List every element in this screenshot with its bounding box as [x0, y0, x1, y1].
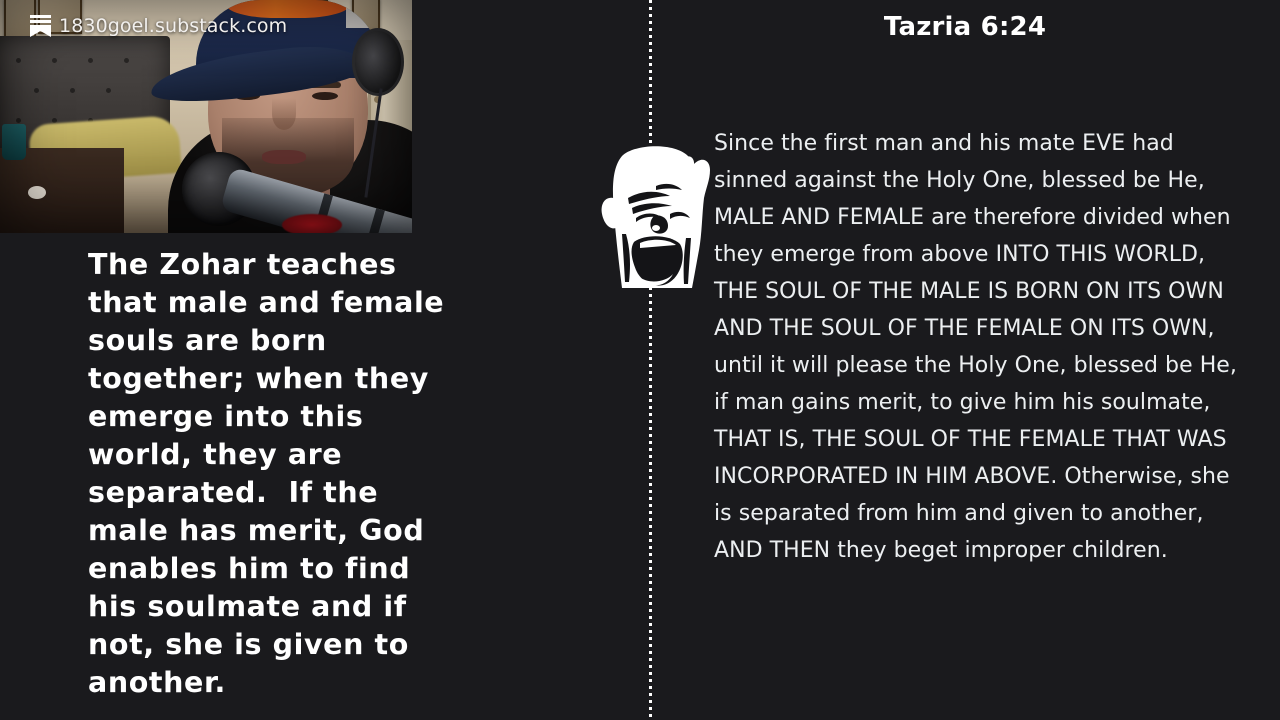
screaming-face-icon	[598, 142, 716, 294]
headphone-earcup-icon	[352, 28, 404, 96]
page-title: Tazria 6:24	[650, 12, 1280, 42]
speaker-nose	[272, 98, 296, 130]
slide-canvas: 1830goel.substack.com The Zohar teaches …	[0, 0, 1280, 720]
left-caption-text: The Zohar teaches that male and female s…	[88, 246, 508, 702]
substack-logo-icon	[30, 14, 51, 38]
substack-watermark: 1830goel.substack.com	[30, 14, 287, 38]
vertical-dotted-divider	[649, 0, 652, 720]
nightstand	[0, 148, 124, 233]
speaker-eye	[312, 92, 338, 100]
substack-watermark-text: 1830goel.substack.com	[59, 15, 287, 37]
verse-body-text: Since the first man and his mate EVE had…	[714, 125, 1242, 569]
microphone-indicator	[282, 214, 342, 233]
desk-cup	[2, 124, 26, 160]
speaker-mouth	[262, 150, 306, 164]
desk-object	[28, 186, 46, 199]
